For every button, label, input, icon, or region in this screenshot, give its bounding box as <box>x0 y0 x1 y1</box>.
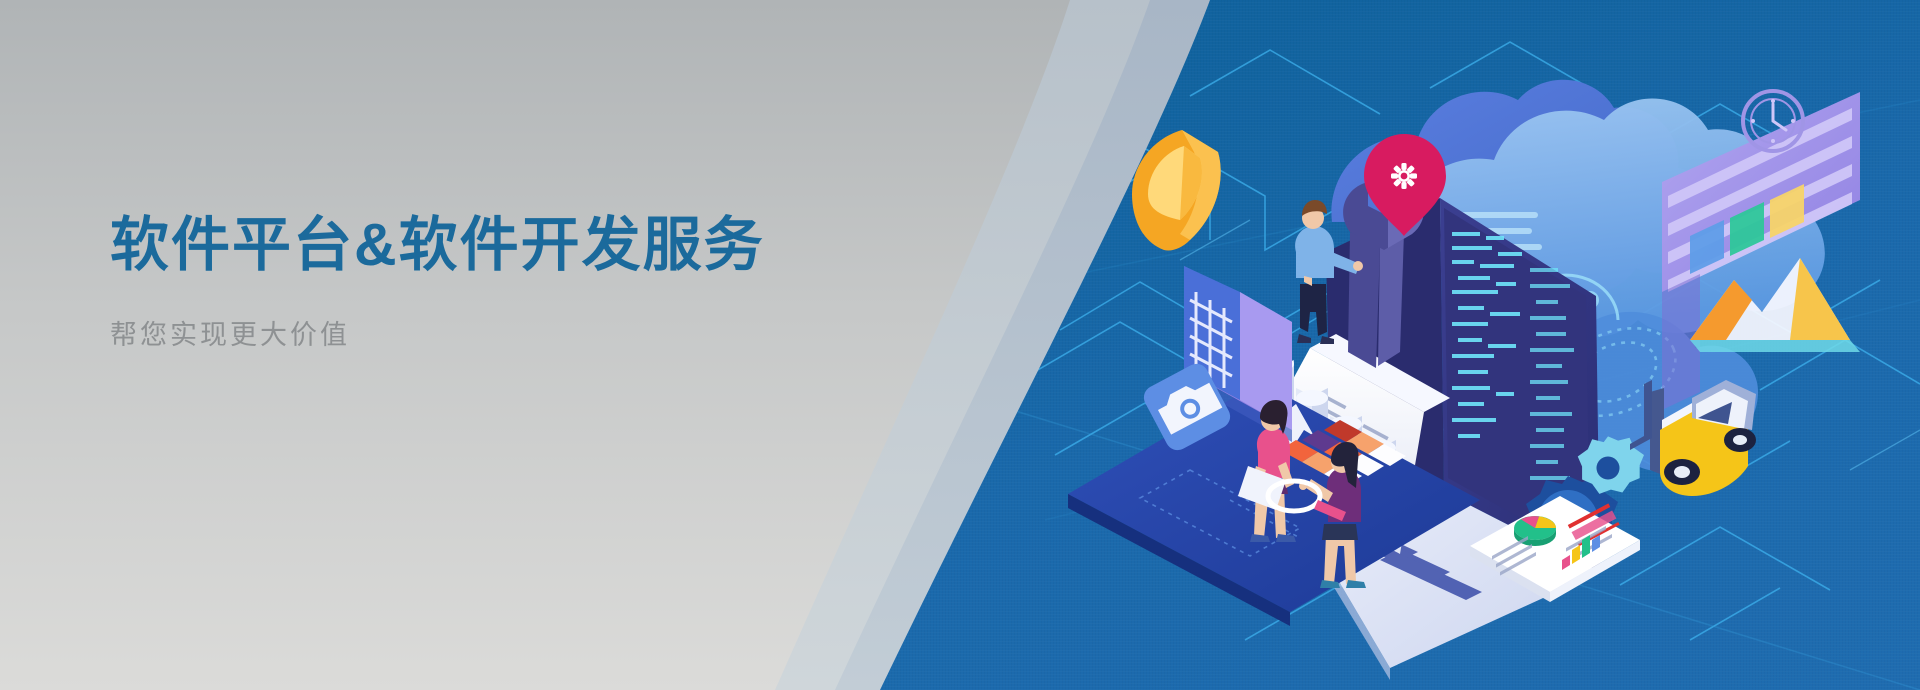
hero-banner: 软件平台&软件开发服务 帮您实现更大价值 <box>0 0 1920 690</box>
page-title: 软件平台&软件开发服务 <box>110 212 890 278</box>
hero-copy: 软件平台&软件开发服务 帮您实现更大价值 <box>110 212 890 353</box>
page-subtitle: 帮您实现更大价值 <box>110 318 890 353</box>
